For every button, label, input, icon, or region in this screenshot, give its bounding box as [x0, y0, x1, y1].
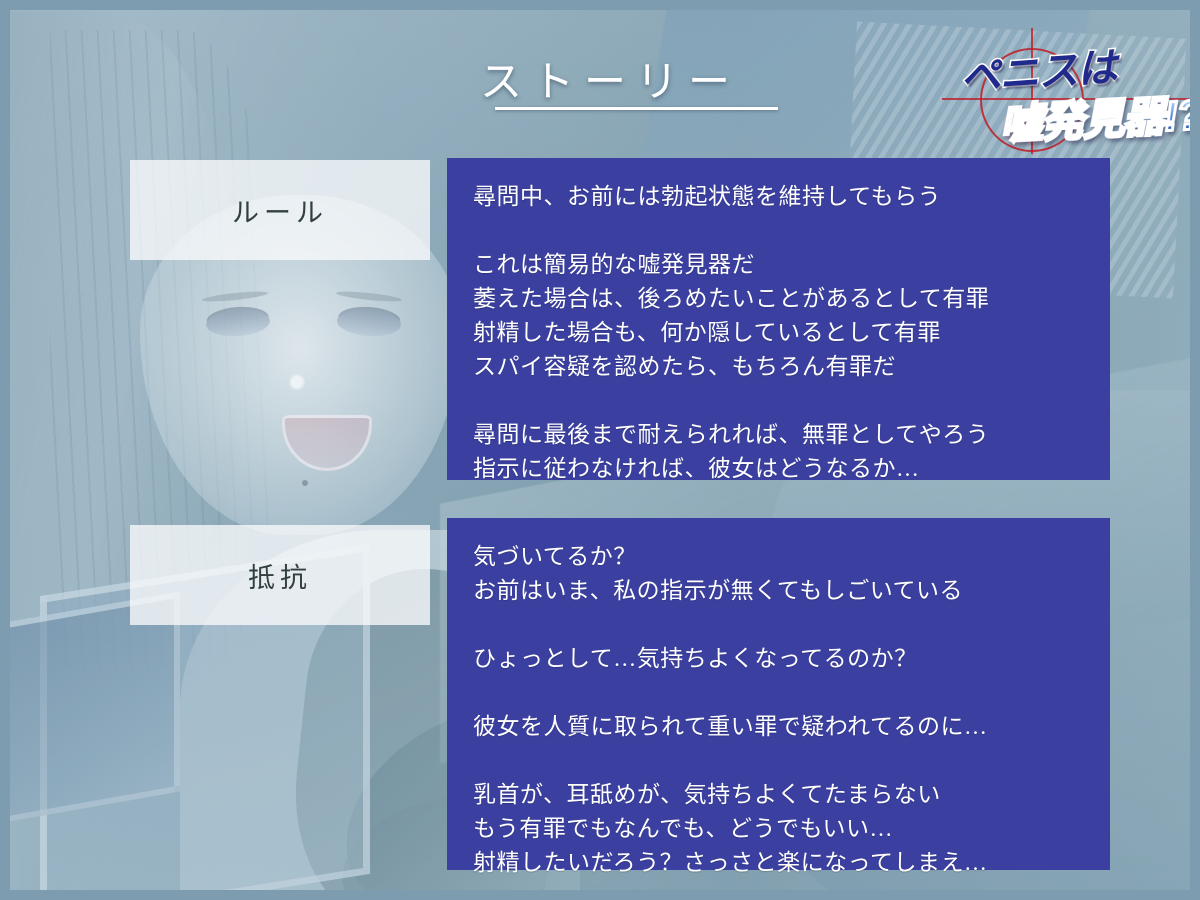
story-panel-rule: 尋問中、お前には勃起状態を維持してもらう これは簡易的な嘘発見器だ 萎えた場合は… [447, 158, 1110, 480]
game-logo: ペニスは 嘘発見器!? [942, 28, 1190, 154]
panel-line-spacer [473, 384, 1084, 418]
section-label-rule: ルール [130, 160, 430, 260]
panel-line-spacer [473, 608, 1084, 642]
panel-line: 気づいてるか？ [473, 540, 1084, 574]
panel-line: 射精したいだろう？さっさと楽になってしまえ… [473, 846, 1084, 880]
panel-line-spacer [473, 214, 1084, 248]
panel-line-spacer [473, 676, 1084, 710]
content-frame: ストーリー ペニスは 嘘発見器!? ルール 尋問中、お前には勃起状態を維持しても… [10, 10, 1190, 890]
section-label-rule-text: ルール [232, 191, 328, 230]
section-label-resist: 抵抗 [130, 525, 430, 625]
logo-detector-word: 発見器!? [1040, 91, 1190, 146]
panel-line: 尋問に最後まで耐えられれば、無罪としてやろう [473, 418, 1084, 452]
panel-line: もう有罪でもなんでも、どうでもいい… [473, 812, 1084, 846]
story-page: ストーリー ペニスは 嘘発見器!? ルール 尋問中、お前には勃起状態を維持しても… [0, 0, 1200, 900]
panel-line: 尋問中、お前には勃起状態を維持してもらう [473, 180, 1084, 214]
panel-line: 乳首が、耳舐めが、気持ちよくてたまらない [473, 778, 1084, 812]
panel-line: 萎えた場合は、後ろめたいことがあるとして有罪 [473, 282, 1084, 316]
logo-lie-word: 嘘 [999, 99, 1042, 148]
story-panel-resist: 気づいてるか？ お前はいま、私の指示が無くてもしごいている ひょっとして…気持ち… [447, 518, 1110, 870]
panel-line: 彼女を人質に取られて重い罪で疑われてるのに… [473, 710, 1084, 744]
panel-line: これは簡易的な嘘発見器だ [473, 248, 1084, 282]
section-label-resist-text: 抵抗 [248, 556, 312, 595]
panel-line: ひょっとして…気持ちよくなってるのか？ [473, 642, 1084, 676]
panel-line: お前はいま、私の指示が無くてもしごいている [473, 574, 1084, 608]
panel-line: 指示に従わなければ、彼女はどうなるか… [473, 452, 1084, 486]
panel-line: スパイ容疑を認めたら、もちろん有罪だ [473, 350, 1084, 384]
title-underline [495, 107, 778, 110]
panel-line: 射精した場合も、何か隠しているとして有罪 [473, 316, 1084, 350]
panel-line-spacer [473, 744, 1084, 778]
logo-line-2: 嘘発見器!? [999, 81, 1190, 152]
